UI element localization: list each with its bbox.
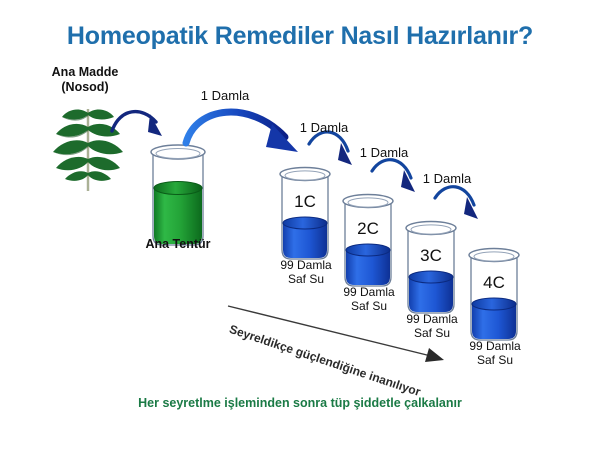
dilution-jar-2c	[337, 192, 399, 292]
water-label-4c-line2: Saf Su	[452, 353, 538, 367]
jar-caption-3c: 3C	[401, 246, 461, 266]
drop-label-3: 1 Damla	[348, 145, 420, 160]
dilution-jar-4c	[463, 246, 525, 346]
dilution-jar-3c	[400, 219, 462, 319]
tincture-jar	[145, 143, 211, 251]
water-label-4c-line1: 99 Damla	[452, 339, 538, 353]
drop-label-4: 1 Damla	[411, 171, 483, 186]
drop-label-2: 1 Damla	[288, 120, 360, 135]
jar-caption-1c: 1C	[275, 192, 335, 212]
jar-caption-2c: 2C	[338, 219, 398, 239]
bottom-note: Her seyretlme işleminden sonra tüp şidde…	[0, 396, 600, 410]
page-title: Homeopatik Remediler Nasıl Hazırlanır?	[0, 22, 600, 51]
arrow-2c-to-3c	[372, 160, 415, 192]
source-material-label-line1: Ana Madde	[20, 65, 150, 79]
plant-icon	[48, 103, 128, 195]
arrow-3c-to-4c	[435, 187, 478, 219]
dilution-jar-1c	[274, 165, 336, 265]
diagram-canvas: Homeopatik Remediler Nasıl Hazırlanır? A…	[0, 0, 600, 450]
jar-caption-4c: 4C	[464, 273, 524, 293]
arrow-1c-to-2c	[309, 132, 352, 165]
drop-label-1: 1 Damla	[185, 88, 265, 103]
tincture-label: Ana Tentür	[128, 237, 228, 251]
source-material-label-line2: (Nosod)	[20, 80, 150, 94]
